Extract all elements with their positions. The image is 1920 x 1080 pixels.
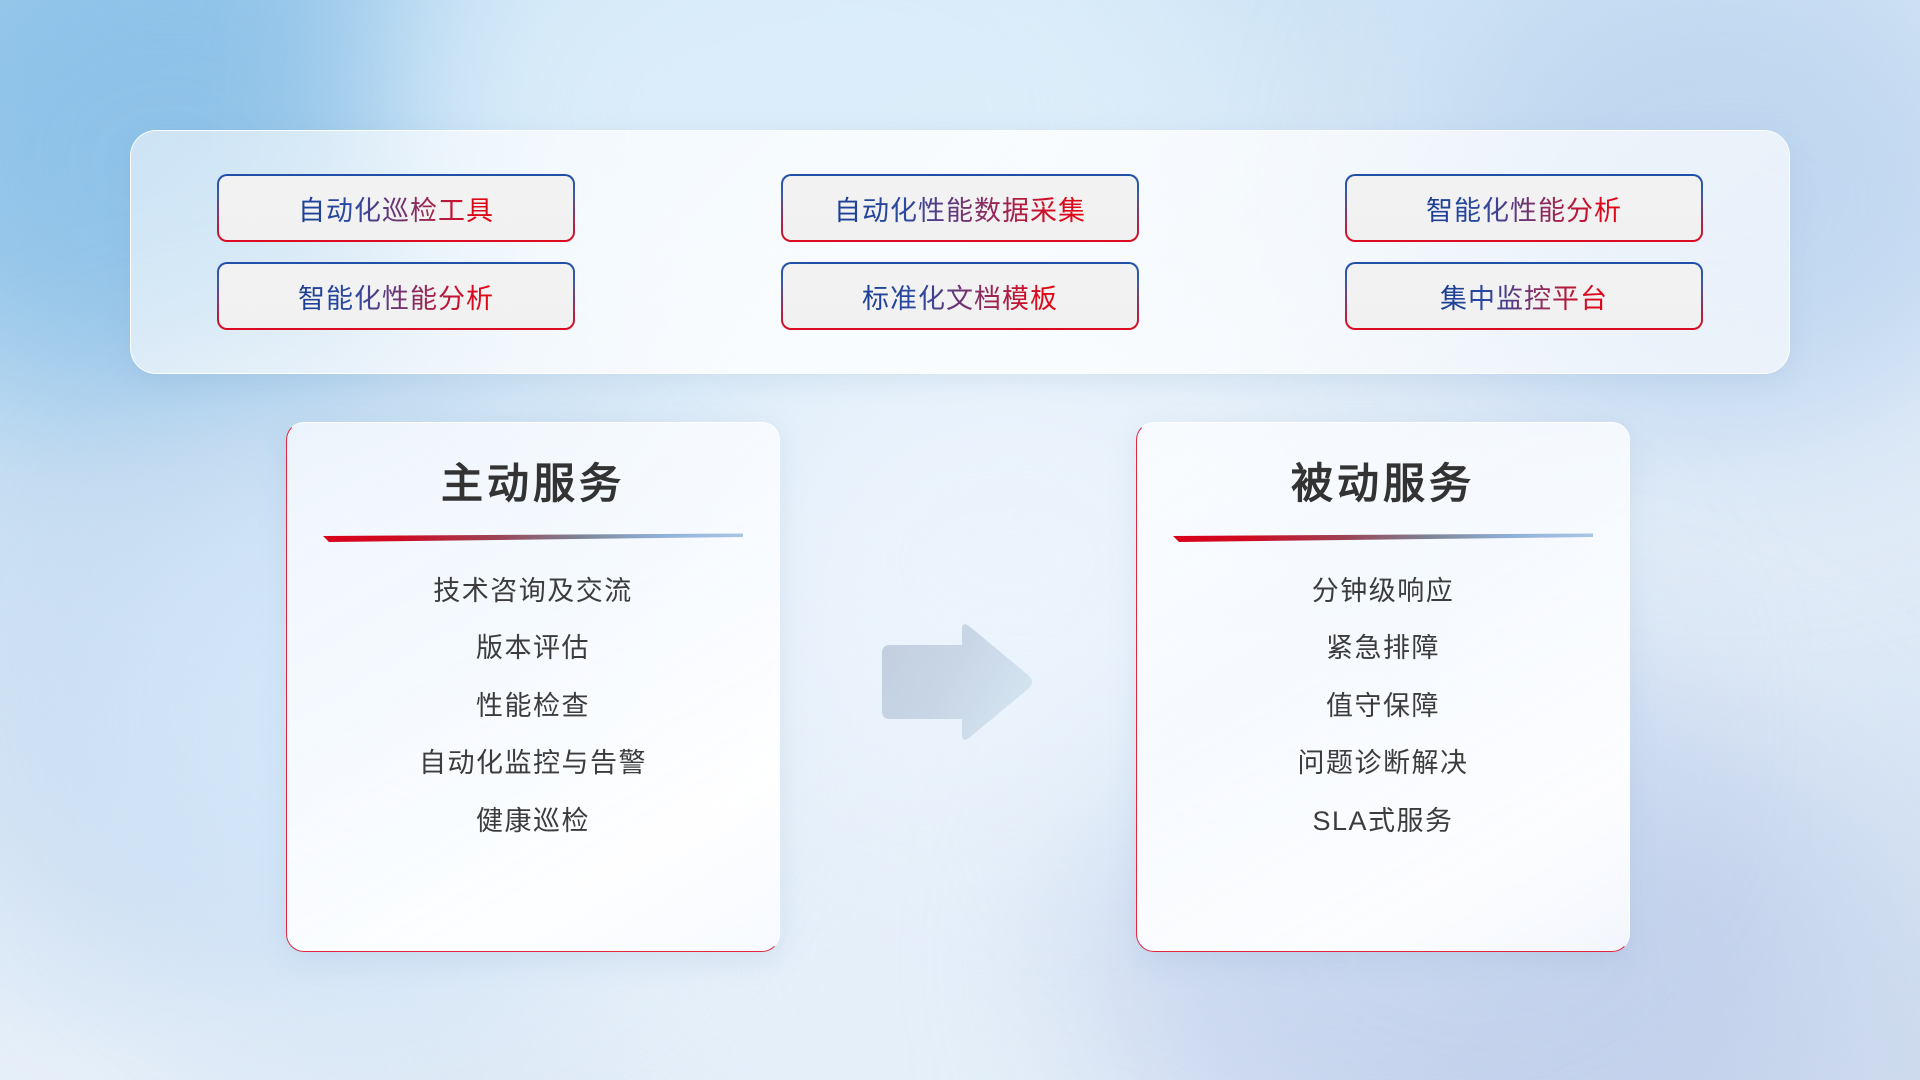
- capability-tag[interactable]: 标准化文档模板: [781, 262, 1139, 330]
- service-item: 技术咨询及交流: [433, 573, 633, 609]
- capability-tag[interactable]: 自动化性能数据采集: [781, 174, 1139, 242]
- capability-tag-label: 自动化性能数据采集: [834, 189, 1086, 228]
- capability-tag[interactable]: 集中监控平台: [1345, 262, 1703, 330]
- service-item: SLA式服务: [1312, 803, 1453, 839]
- capability-tag-row: 智能化性能分析 标准化文档模板 集中监控平台: [217, 262, 1703, 330]
- service-item: 性能检查: [476, 688, 590, 724]
- service-item-list: 技术咨询及交流 版本评估 性能检查 自动化监控与告警 健康巡检: [329, 573, 737, 839]
- service-card-reactive: 被动服务 分钟级响应 紧急排障 值守保障 问题诊断解决 SLA式服务: [1136, 422, 1630, 952]
- capability-tag-label: 智能化性能分析: [1426, 189, 1622, 228]
- capability-tag-label: 智能化性能分析: [298, 277, 494, 316]
- service-item: 紧急排障: [1326, 630, 1440, 666]
- service-card-proactive: 主动服务 技术咨询及交流 版本评估 性能检查 自动化监控与告警 健康巡检: [286, 422, 780, 952]
- capability-tags-panel: 自动化巡检工具 自动化性能数据采集 智能化性能分析 智能化性能分析 标准化文档模…: [130, 130, 1790, 374]
- service-item: 问题诊断解决: [1298, 745, 1469, 781]
- card-title: 被动服务: [1291, 457, 1475, 511]
- capability-tag-label: 标准化文档模板: [862, 277, 1058, 316]
- capability-tag[interactable]: 智能化性能分析: [217, 262, 575, 330]
- card-title: 主动服务: [441, 457, 625, 511]
- slide-canvas: 自动化巡检工具 自动化性能数据采集 智能化性能分析 智能化性能分析 标准化文档模…: [0, 0, 1920, 1080]
- card-divider: [1173, 533, 1593, 545]
- service-item: 自动化监控与告警: [419, 745, 647, 781]
- arrow-right-icon: [876, 620, 1036, 745]
- service-item: 分钟级响应: [1312, 573, 1455, 609]
- capability-tag-label: 自动化巡检工具: [298, 189, 494, 228]
- capability-tag-row: 自动化巡检工具 自动化性能数据采集 智能化性能分析: [217, 174, 1703, 242]
- service-item: 值守保障: [1326, 688, 1440, 724]
- card-divider: [323, 533, 743, 545]
- capability-tag-label: 集中监控平台: [1440, 277, 1608, 316]
- service-item-list: 分钟级响应 紧急排障 值守保障 问题诊断解决 SLA式服务: [1179, 573, 1587, 839]
- service-item: 版本评估: [476, 630, 590, 666]
- capability-tag[interactable]: 自动化巡检工具: [217, 174, 575, 242]
- service-item: 健康巡检: [476, 803, 590, 839]
- capability-tag[interactable]: 智能化性能分析: [1345, 174, 1703, 242]
